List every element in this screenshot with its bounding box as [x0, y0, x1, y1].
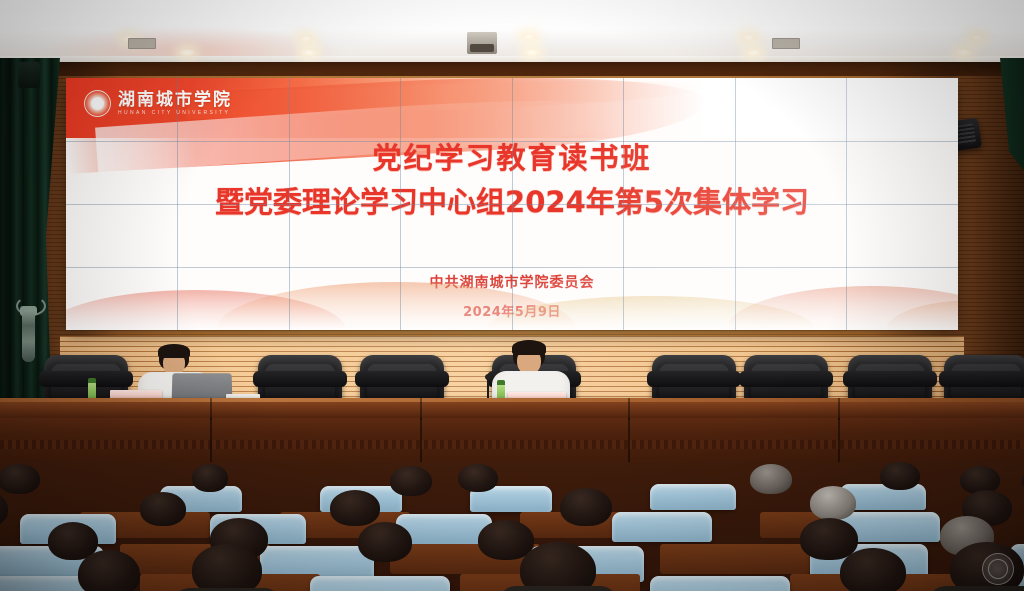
- official-center-hair-top: [512, 340, 546, 355]
- water-bottle-cap: [497, 380, 505, 385]
- led-screen-sheen: [66, 78, 958, 330]
- downlight-icon: [968, 33, 986, 42]
- rostrum-table-trim: [0, 440, 1024, 449]
- ceiling-vent-icon: [128, 38, 156, 49]
- microphone-head-icon: [485, 374, 491, 380]
- downlight-icon: [740, 33, 758, 42]
- downlight-icon: [297, 34, 315, 43]
- rostrum-chair: [848, 355, 932, 401]
- rostrum-chair: [258, 355, 342, 401]
- audience-shoulders: [498, 586, 618, 591]
- ceiling-projector-icon: [467, 32, 497, 54]
- audience-head: [840, 548, 906, 591]
- downlight-icon: [520, 32, 538, 41]
- wall-top-trim: [0, 62, 1024, 76]
- auditorium-seat: [650, 484, 736, 510]
- rostrum-chair: [360, 355, 444, 401]
- downlight-icon: [523, 48, 541, 57]
- rostrum-table-edge: [0, 398, 1024, 402]
- rostrum-chair: [744, 355, 828, 401]
- auditorium-seat: [310, 576, 450, 591]
- rostrum-chair: [652, 355, 736, 401]
- audience-head: [560, 488, 612, 526]
- circular-seal-watermark-icon: [982, 553, 1014, 585]
- audience-area: [0, 462, 1024, 591]
- audience-head: [810, 486, 856, 520]
- audience-head: [192, 464, 228, 492]
- downlight-icon: [745, 48, 763, 57]
- auditorium-seat: [650, 576, 790, 591]
- audience-head: [390, 466, 432, 496]
- led-video-wall: 湖南城市学院 HUNAN CITY UNIVERSITY 党纪学习教育读书班 暨…: [66, 78, 958, 330]
- audience-head: [0, 490, 8, 528]
- auditorium-seat: [612, 512, 712, 542]
- downlight-icon: [955, 48, 973, 57]
- audience-head: [520, 542, 596, 591]
- rostrum-chair: [944, 355, 1024, 401]
- audience-head: [140, 492, 186, 526]
- audience-head: [192, 544, 262, 591]
- downlight-icon: [300, 48, 318, 57]
- audience-head: [750, 464, 792, 494]
- audience-head: [330, 490, 380, 526]
- wall-speaker-left-icon: [18, 62, 40, 88]
- official-left-hair-top: [158, 344, 190, 358]
- audience-head: [358, 522, 412, 562]
- downlight-icon: [178, 48, 196, 57]
- audience-head: [78, 550, 140, 591]
- audience-shoulders: [928, 586, 1024, 591]
- seat-wood-back: [660, 544, 810, 574]
- audience-head: [880, 462, 920, 490]
- water-bottle-cap: [88, 378, 96, 383]
- audience-head: [0, 464, 40, 494]
- audience-head: [458, 464, 498, 492]
- ceiling-vent-icon: [772, 38, 800, 49]
- photo-scene: 湖南城市学院 HUNAN CITY UNIVERSITY 党纪学习教育读书班 暨…: [0, 0, 1024, 591]
